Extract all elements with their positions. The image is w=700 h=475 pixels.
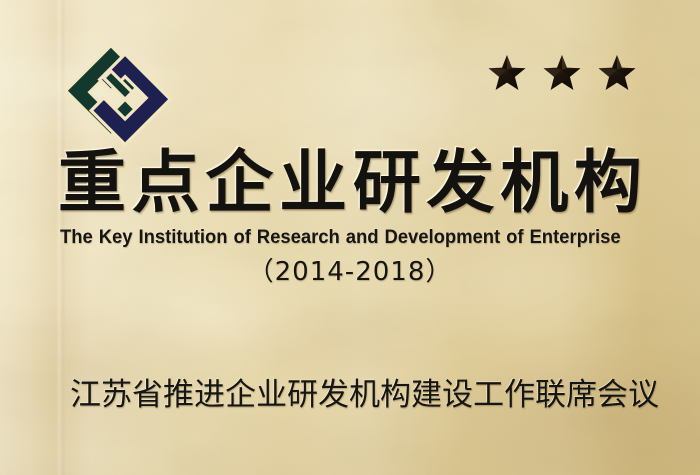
footer-char: 建: [411, 380, 442, 411]
subtitle-word: and: [346, 228, 379, 247]
subtitle-word: Key: [99, 228, 133, 247]
footer-char: 推: [163, 380, 194, 411]
subtitle-word: Research: [257, 228, 340, 247]
footer-char: 苏: [101, 380, 132, 411]
plaque-year-range: （2014-2018）: [0, 259, 700, 285]
footer-char: 议: [628, 380, 659, 411]
title-char: 点: [132, 150, 200, 218]
organization-logo: [58, 40, 178, 150]
star-2-icon: [542, 53, 582, 93]
title-char: 业: [279, 150, 347, 218]
title-char: 研: [353, 150, 421, 218]
plaque-subtitle-english: The Key Institution of Research and Deve…: [60, 225, 621, 249]
subtitle-word: of: [506, 228, 523, 247]
footer-char: 席: [566, 380, 597, 411]
footer-char: 机: [349, 380, 380, 411]
footer-char: 工: [473, 380, 504, 411]
star-1-icon: [487, 53, 527, 93]
subtitle-word: Development: [384, 228, 500, 247]
title-char: 重: [58, 150, 126, 218]
footer-char: 作: [504, 380, 535, 411]
footer-char: 江: [70, 380, 101, 411]
title-char: 发: [427, 150, 495, 218]
footer-char: 企: [225, 380, 256, 411]
footer-char: 研: [287, 380, 318, 411]
title-char: 企: [205, 150, 273, 218]
plaque-title-chinese: 重 点 企 业 研 发 机 构: [58, 147, 642, 221]
footer-char: 进: [194, 380, 225, 411]
star-rating: [487, 50, 637, 96]
award-plaque: 重 点 企 业 研 发 机 构 The Key Institution of R…: [0, 0, 700, 475]
title-char: 机: [500, 150, 568, 218]
subtitle-word: The: [60, 228, 93, 247]
plaque-issuing-authority-chinese: 江 苏 省 推 进 企 业 研 发 机 构 建 设 工 作 联 席 会 议: [70, 378, 630, 412]
footer-char: 会: [597, 380, 628, 411]
star-3-icon: [597, 53, 637, 93]
subtitle-word: of: [233, 228, 250, 247]
footer-char: 省: [132, 380, 163, 411]
title-char: 构: [574, 150, 642, 218]
footer-char: 设: [442, 380, 473, 411]
subtitle-word: Institution: [138, 228, 227, 247]
interlocking-diamonds-logo-icon: [58, 40, 178, 150]
footer-char: 发: [318, 380, 349, 411]
footer-char: 构: [380, 380, 411, 411]
footer-char: 业: [256, 380, 287, 411]
footer-char: 联: [535, 380, 566, 411]
subtitle-word: Enterprise: [529, 228, 620, 247]
